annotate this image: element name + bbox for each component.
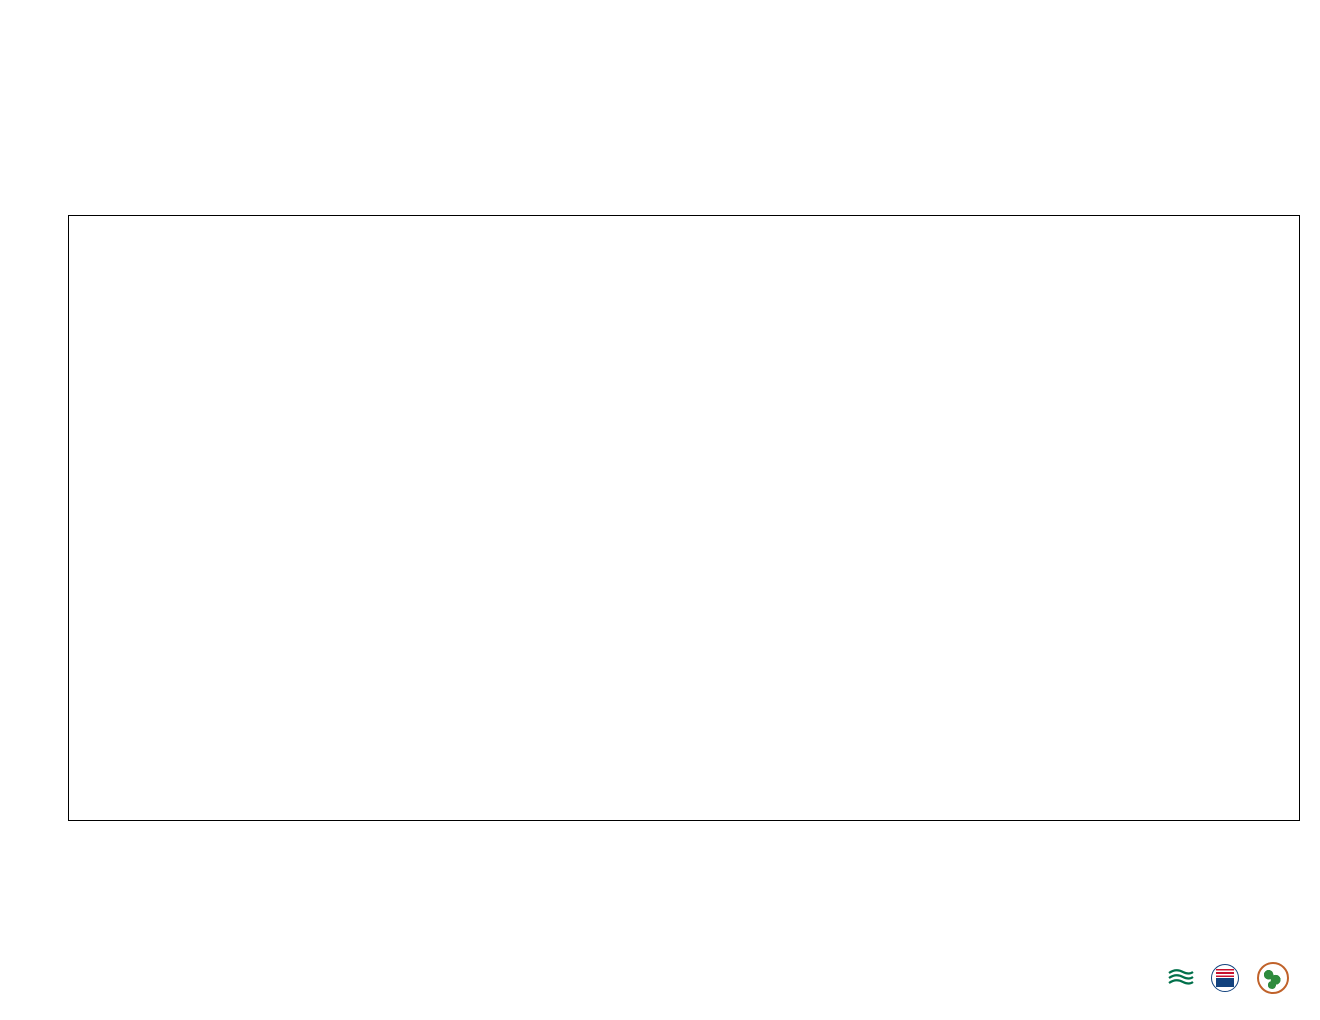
globe-icon: [1257, 962, 1289, 994]
usgs-wave-icon: [1168, 967, 1194, 989]
legend-color-bar: [448, 877, 883, 902]
map-raster[interactable]: [69, 216, 1299, 820]
title-block: [0, 22, 1320, 26]
usgs-logo: [1168, 967, 1197, 990]
fewsnet-logo: [1257, 962, 1292, 994]
usaid-logo: [1211, 964, 1243, 992]
map-frame[interactable]: [68, 215, 1300, 821]
usaid-seal-icon: [1211, 964, 1239, 992]
logo-strip: [1168, 958, 1292, 998]
